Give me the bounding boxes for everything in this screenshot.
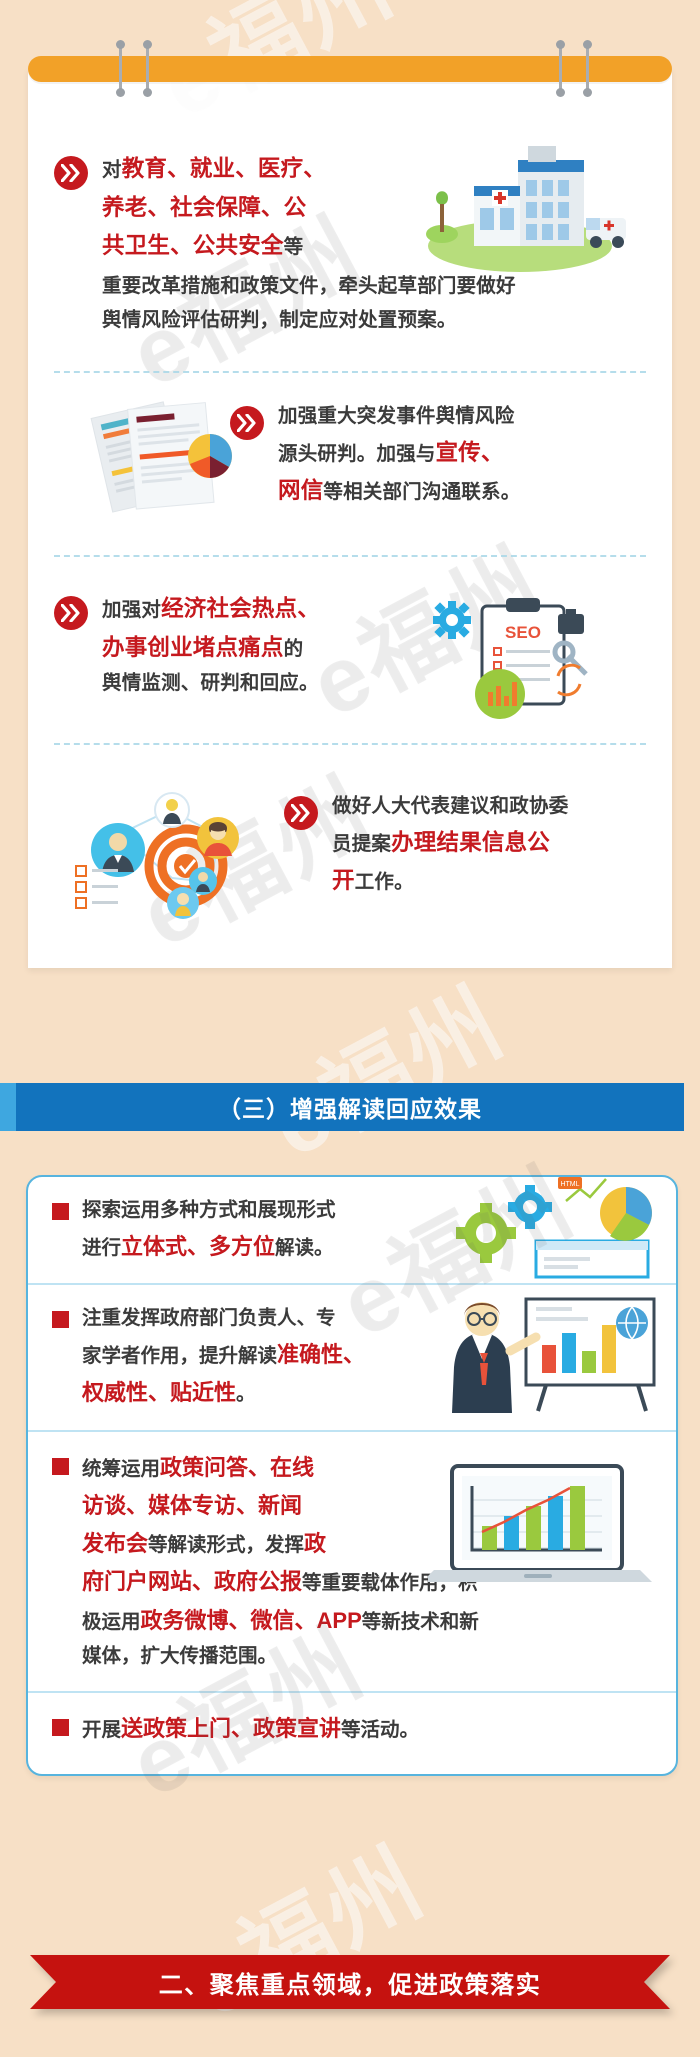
list-item: 开展送政策上门、政策宣讲等活动。 — [28, 1691, 676, 1774]
section-header-bar: （三）增强解读回应效果 — [16, 1083, 684, 1131]
block-text: 对教育、就业、医疗、 养老、社会保障、公 共卫生、公共安全等 重要改革措施和政策… — [102, 150, 516, 337]
list-item: 探索运用多种方式和展现形式 进行立体式、多方位解读。 HTML — [28, 1177, 676, 1283]
block-text: 加强对经济社会热点、 办事创业堵点痛点的 舆情监测、研判和回应。 — [102, 590, 320, 701]
red-square-bullet — [52, 1311, 69, 1328]
list-item: 做好人大代表建议和政协委 员提案办理结果信息公 开工作。 — [54, 790, 646, 901]
content-card: 探索运用多种方式和展现形式 进行立体式、多方位解读。 HTML — [26, 1175, 678, 1776]
gears-webpage-chart-illustration: HTML — [438, 1167, 668, 1287]
red-square-bullet — [52, 1458, 69, 1475]
divider — [54, 743, 646, 745]
list-item: 加强对经济社会热点、 办事创业堵点痛点的 舆情监测、研判和回应。 — [54, 590, 646, 701]
double-chevron-icon — [284, 796, 318, 830]
card-row-text: 统筹运用政策问答、在线 访谈、媒体专访、新闻 发布会等解读形式，发挥政 府门户网… — [82, 1449, 479, 1674]
double-chevron-icon — [230, 406, 264, 440]
red-square-bullet — [52, 1203, 69, 1220]
card-row-text: 开展送政策上门、政策宣讲等活动。 — [82, 1710, 419, 1748]
binder-bar — [28, 56, 672, 82]
list-item: 对教育、就业、医疗、 养老、社会保障、公 共卫生、公共安全等 重要改革措施和政策… — [54, 150, 646, 337]
section-header-label: （三）增强解读回应效果 — [218, 1090, 482, 1124]
divider — [54, 555, 646, 557]
block-text: 做好人大代表建议和政协委 员提案办理结果信息公 开工作。 — [332, 790, 568, 901]
watermark-text: e福州 — [243, 950, 524, 1183]
double-chevron-icon — [54, 156, 88, 190]
list-item: 加强重大突发事件舆情风险 源头研判。加强与宣传、 网信等相关部门沟通联系。 — [54, 400, 646, 511]
double-chevron-icon — [54, 596, 88, 630]
card-row-text: 注重发挥政府部门负责人、专 家学者作用，提升解读准确性、 权威性、贴近性。 — [82, 1302, 365, 1412]
block-text: 加强重大突发事件舆情风险 源头研判。加强与宣传、 网信等相关部门沟通联系。 — [278, 400, 520, 511]
presenter-whiteboard-illustration — [418, 1289, 668, 1419]
svg-text:HTML: HTML — [560, 1181, 579, 1188]
divider — [54, 371, 646, 373]
ribbon-label: 二、聚焦重点领域，促进政策落实 — [159, 1965, 542, 2000]
list-item: 注重发挥政府部门负责人、专 家学者作用，提升解读准确性、 权威性、贴近性。 — [28, 1283, 676, 1429]
card-row-text: 探索运用多种方式和展现形式 进行立体式、多方位解读。 — [82, 1194, 336, 1266]
red-square-bullet — [52, 1719, 69, 1736]
list-item: 统筹运用政策问答、在线 访谈、媒体专访、新闻 发布会等解读形式，发挥政 府门户网… — [28, 1430, 676, 1691]
section-ribbon: 二、聚焦重点领域，促进政策落实 — [30, 1955, 670, 2009]
section-header-tab — [0, 1083, 16, 1131]
